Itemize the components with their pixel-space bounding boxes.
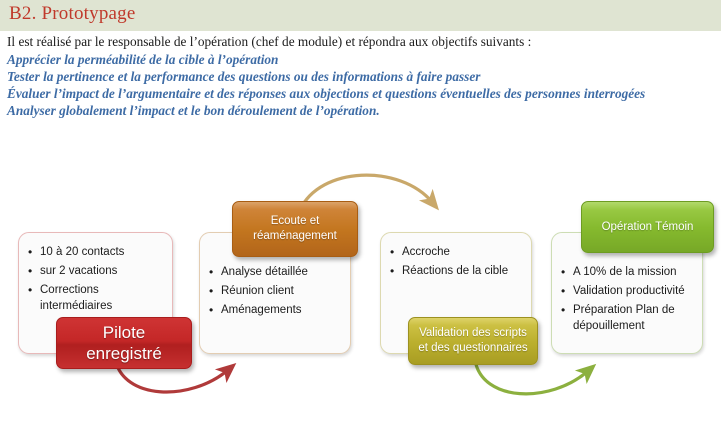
list-item: 10 à 20 contacts: [27, 245, 162, 261]
objective-item-4: Analyser globalement l’impact et le bon …: [7, 102, 717, 119]
objective-item-2: Tester la pertinence et la performance d…: [7, 68, 717, 85]
bullet-list-validation: Accroche Réactions de la cible: [389, 245, 521, 280]
bullet-list-ecoute: Analyse détaillée Réunion client Aménage…: [208, 265, 340, 319]
list-item: Aménagements: [208, 303, 340, 319]
chip-line-1: Validation des scripts: [409, 326, 537, 341]
objective-item-1: Apprécier la perméabilité de la cible à …: [7, 51, 717, 68]
list-item: Préparation Plan de dépouillement: [560, 303, 692, 334]
list-item: sur 2 vacations: [27, 264, 162, 280]
stage-label-pilote[interactable]: Pilote enregistré: [56, 317, 192, 369]
stage-label-operation-temoin-text: Opération Témoin: [582, 220, 713, 235]
stage-label-validation[interactable]: Validation des scripts et des questionna…: [408, 317, 538, 365]
list-item: Réunion client: [208, 284, 340, 300]
list-item: Réactions de la cible: [389, 264, 521, 280]
intro-text-block: Il est réalisé par le responsable de l’o…: [7, 33, 717, 119]
process-diagram: 10 à 20 contacts sur 2 vacations Correct…: [0, 160, 721, 425]
arrow-validation-to-temoin: [475, 360, 588, 394]
stage-label-pilote-text: Pilote enregistré: [57, 322, 191, 364]
chip-line-1: Pilote: [57, 322, 191, 343]
intro-lead-sentence: Il est réalisé par le responsable de l’o…: [7, 33, 717, 50]
list-item: Corrections intermédiaires: [27, 283, 162, 314]
chip-line-1: Opération Témoin: [582, 220, 713, 235]
list-item: Accroche: [389, 245, 521, 261]
chip-line-2: réaménagement: [233, 229, 357, 244]
bullet-list-operation-temoin: A 10% de la mission Validation productiv…: [560, 265, 692, 334]
chip-line-2: et des questionnaires: [409, 341, 537, 356]
list-item: A 10% de la mission: [560, 265, 692, 281]
objective-item-3: Évaluer l’impact de l’argumentaire et de…: [7, 85, 717, 102]
stage-label-operation-temoin[interactable]: Opération Témoin: [581, 201, 714, 253]
stage-label-ecoute[interactable]: Ecoute et réaménagement: [232, 201, 358, 257]
chip-line-2: enregistré: [57, 343, 191, 364]
stage-label-validation-text: Validation des scripts et des questionna…: [409, 326, 537, 356]
list-item: Analyse détaillée: [208, 265, 340, 281]
chip-line-1: Ecoute et: [233, 214, 357, 229]
page-title: B2. Prototypage: [9, 3, 136, 25]
stage-label-ecoute-text: Ecoute et réaménagement: [233, 214, 357, 244]
list-item: Validation productivité: [560, 284, 692, 300]
bullet-list-pilote: 10 à 20 contacts sur 2 vacations Correct…: [27, 245, 162, 314]
